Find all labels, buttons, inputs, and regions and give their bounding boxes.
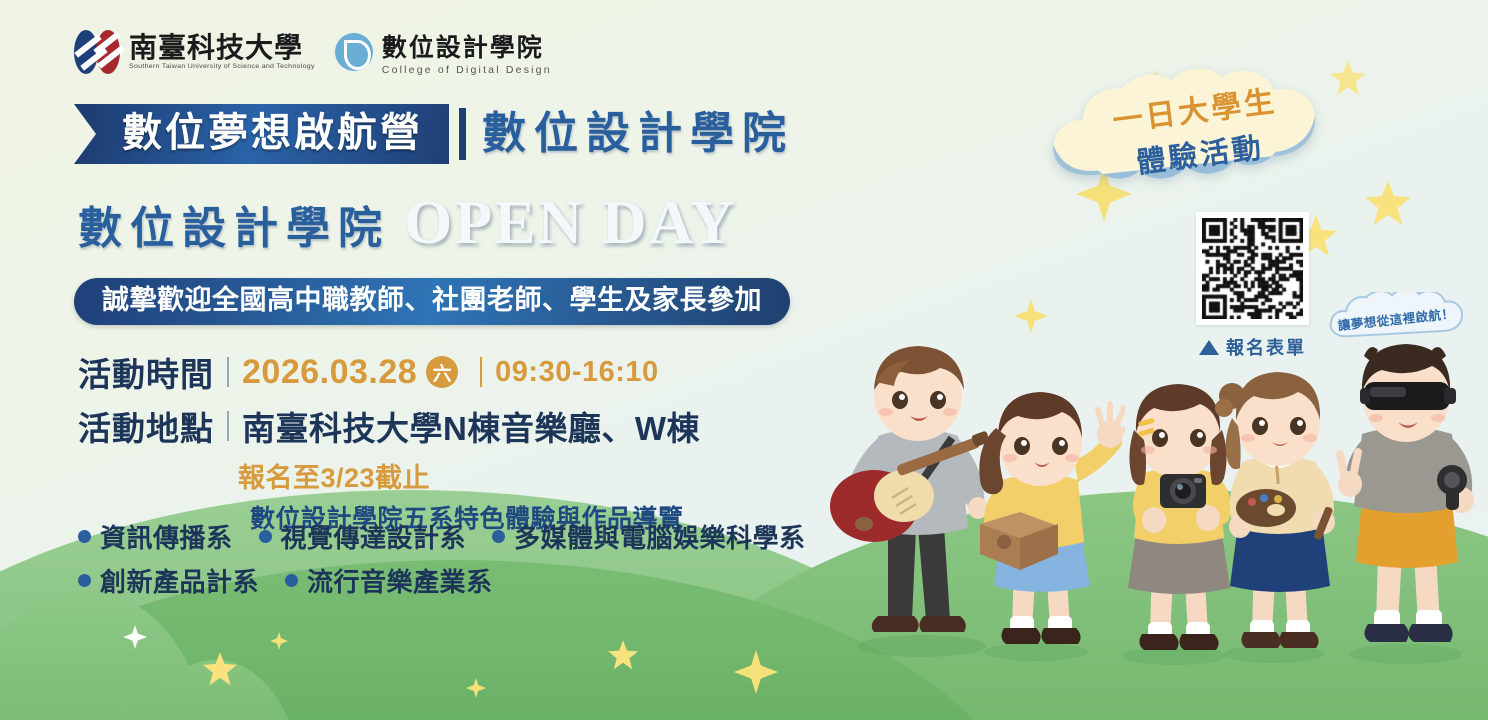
cdd-logo-mark xyxy=(335,33,373,71)
bullet-dot-icon xyxy=(285,574,298,587)
open-day-banner: 南臺科技大學 Southern Taiwan University of Sci… xyxy=(0,0,1488,720)
qr-caption: 報名表單 xyxy=(1196,334,1309,360)
headline-ribbon-text: 數位夢想啟航營 xyxy=(122,113,423,153)
bullet-dot-icon xyxy=(259,530,272,543)
list-item: 視覺傳達設計系 xyxy=(259,518,467,555)
headline-blue-text: 數位設計學院 xyxy=(482,112,794,156)
list-item: 資訊傳播系 xyxy=(78,518,233,555)
bullet-dot-icon xyxy=(492,530,505,543)
divider xyxy=(227,411,229,441)
logo-bar: 南臺科技大學 Southern Taiwan University of Sci… xyxy=(74,28,552,76)
department-label: 創新產品計系 xyxy=(100,562,259,599)
cloud-callout: 一日大學生 體驗活動 xyxy=(1035,68,1360,198)
stut-logo-mark xyxy=(74,30,120,74)
college-logo: 數位設計學院 College of Digital Design xyxy=(335,28,552,76)
registration-deadline: 報名至3/23截止 xyxy=(238,456,700,495)
department-label: 流行音樂產業系 xyxy=(307,562,493,599)
event-place: 南臺科技大學N棟音樂廳、W棟 xyxy=(242,402,700,450)
college-name-en: College of Digital Design xyxy=(382,64,552,76)
bullet-dot-icon xyxy=(78,530,91,543)
speech-bubble: 讓夢想從這裡啟航！ xyxy=(1326,292,1466,344)
list-item: 多媒體與電腦娛樂科學系 xyxy=(492,518,806,555)
event-date: 2026.03.28 xyxy=(242,353,417,392)
department-label: 資訊傳播系 xyxy=(100,518,233,555)
event-place-label: 活動地點 xyxy=(78,402,214,450)
vr-headset-icon xyxy=(1360,382,1456,410)
event-info: 活動時間 2026.03.28 六 09:30-16:10 活動地點 南臺科技大… xyxy=(78,348,700,535)
department-row: 資訊傳播系 視覺傳達設計系 多媒體與電腦娛樂科學系 xyxy=(78,518,806,555)
sparkle-star-icon xyxy=(1365,180,1411,226)
university-logo: 南臺科技大學 Southern Taiwan University of Sci… xyxy=(74,30,315,74)
department-label: 多媒體與電腦娛樂科學系 xyxy=(514,518,806,555)
list-item: 創新產品計系 xyxy=(78,562,259,599)
divider xyxy=(227,357,229,387)
event-time-label: 活動時間 xyxy=(78,348,214,396)
university-name-en: Southern Taiwan University of Science an… xyxy=(129,63,315,69)
headline-open-day: OPEN DAY xyxy=(404,192,736,254)
registration-qr[interactable]: 報名表單 xyxy=(1196,212,1309,360)
bullet-dot-icon xyxy=(78,574,91,587)
welcome-text: 誠摯歡迎全國高中職教師、社團老師、學生及家長參加 xyxy=(102,287,762,314)
headline-line2-cn: 數位設計學院 xyxy=(78,207,390,251)
headline-divider xyxy=(459,108,466,160)
paint-palette-icon xyxy=(1236,489,1296,527)
divider xyxy=(480,357,482,387)
department-list: 資訊傳播系 視覺傳達設計系 多媒體與電腦娛樂科學系 創新產品計系 流行音樂產業系 xyxy=(78,518,806,606)
qr-code-box[interactable] xyxy=(1196,212,1309,325)
college-name-cn: 數位設計學院 xyxy=(382,28,552,64)
headline-ribbon: 數位夢想啟航營 xyxy=(74,104,449,164)
up-triangle-icon xyxy=(1199,340,1219,355)
welcome-banner: 誠摯歡迎全國高中職教師、社團老師、學生及家長參加 xyxy=(74,278,790,325)
department-label: 視覺傳達設計系 xyxy=(281,518,467,555)
headline-row-2: 數位設計學院 OPEN DAY xyxy=(78,192,736,254)
character-boy-with-vr xyxy=(1320,342,1488,667)
event-time-range: 09:30-16:10 xyxy=(495,356,659,389)
headline-row-1: 數位夢想啟航營 數位設計學院 xyxy=(74,104,794,164)
sparkle-star-icon xyxy=(1014,299,1048,333)
qr-caption-text: 報名表單 xyxy=(1226,334,1306,360)
university-name-cn: 南臺科技大學 xyxy=(129,34,315,63)
event-time-line: 活動時間 2026.03.28 六 09:30-16:10 xyxy=(78,348,700,396)
event-place-line: 活動地點 南臺科技大學N棟音樂廳、W棟 xyxy=(78,402,700,450)
list-item: 流行音樂產業系 xyxy=(285,562,493,599)
department-row: 創新產品計系 流行音樂產業系 xyxy=(78,562,806,599)
qr-code-icon[interactable] xyxy=(1202,218,1303,319)
event-weekday-badge: 六 xyxy=(426,356,458,388)
